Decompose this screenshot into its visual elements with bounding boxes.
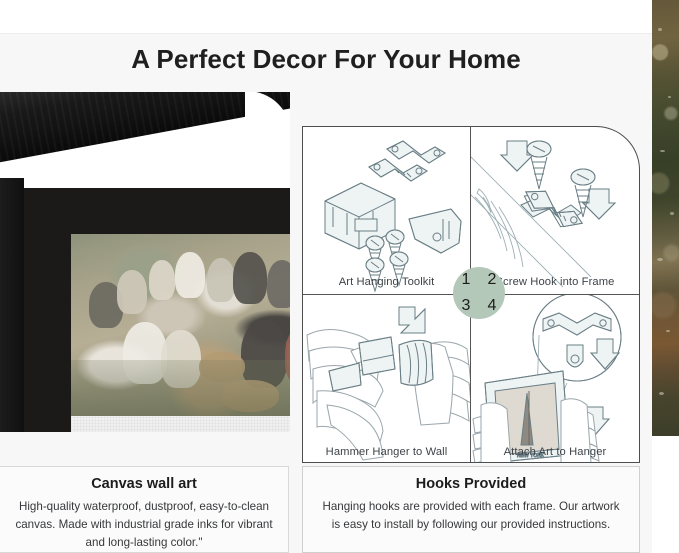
caption-title: Canvas wall art	[0, 476, 288, 492]
artwork-print	[71, 234, 290, 416]
instruction-label-3: Hammer Hanger to Wall	[303, 446, 470, 458]
instruction-panel-4: NEW YORK Attach Art to Hanger	[471, 295, 639, 463]
step-number-1: 1	[453, 267, 479, 293]
instruction-label-1: Art Hanging Toolkit	[303, 276, 470, 288]
step-number-badge: 1 2 3 4	[453, 267, 505, 319]
product-photo	[0, 92, 290, 432]
canvas-white-edge	[71, 416, 290, 432]
frame-left-side	[0, 178, 24, 432]
step-number-3: 3	[453, 293, 479, 319]
page-title: A Perfect Decor For Your Home	[0, 44, 652, 75]
step-number-2: 2	[479, 267, 505, 293]
instruction-label-4: Attach Art to Hanger	[471, 446, 639, 458]
attach-art-illustration: NEW YORK	[471, 295, 639, 463]
product-detail-image: A Perfect Decor For Your Home	[0, 0, 679, 553]
background-painting-strip	[652, 0, 679, 436]
caption-body: High-quality waterproof, dustproof, easy…	[12, 498, 276, 552]
toolkit-illustration	[303, 127, 471, 295]
hammer-hanger-illustration	[303, 295, 471, 463]
canvas-wall-art-caption: Canvas wall art High-quality waterproof,…	[0, 466, 289, 553]
instruction-panel-3: Hammer Hanger to Wall	[303, 295, 471, 463]
instruction-panel-1: Art Hanging Toolkit	[303, 127, 471, 295]
caption-body: Hanging hooks are provided with each fra…	[317, 498, 625, 534]
step-number-4: 4	[479, 293, 505, 319]
caption-title: Hooks Provided	[303, 476, 639, 492]
hooks-provided-caption: Hooks Provided Hanging hooks are provide…	[302, 466, 640, 553]
